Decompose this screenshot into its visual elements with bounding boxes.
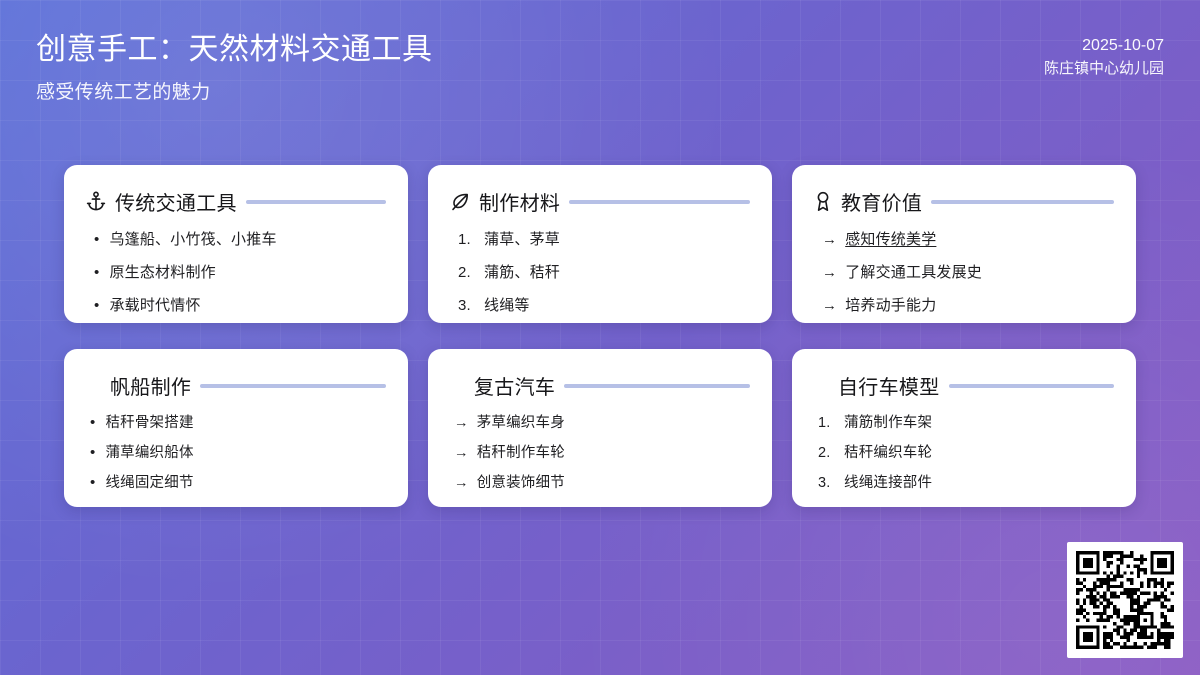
- presentation-slide: 创意手工：天然材料交通工具 感受传统工艺的魅力 2025-10-07 陈庄镇中心…: [0, 0, 1200, 675]
- list-item-text: 培养动手能力: [845, 295, 936, 317]
- list-item-text: 承载时代情怀: [109, 295, 200, 317]
- list-item: •乌篷船、小竹筏、小推车: [94, 229, 386, 251]
- title-accent-rule: [200, 384, 386, 388]
- list-marker: •: [94, 265, 99, 280]
- list-marker: →: [454, 443, 469, 464]
- card-list: →茅草编织车身→秸秆制作车轮→创意装饰细节: [450, 413, 750, 494]
- list-item-text: 蒲草编织船体: [105, 443, 193, 464]
- list-marker: •: [90, 445, 95, 460]
- card-header: 帆船制作: [86, 371, 386, 400]
- award-rosette-icon: [814, 191, 832, 212]
- card-header: 复古汽车: [450, 371, 750, 400]
- list-item-text: 茅草编织车身: [477, 413, 565, 434]
- list-marker: →: [822, 229, 837, 251]
- list-item: •原生态材料制作: [94, 262, 386, 284]
- content-card: 制作材料1.蒲草、茅草2.蒲筋、秸秆3.线绳等: [428, 165, 772, 323]
- title-accent-rule: [564, 384, 750, 388]
- list-marker: →: [454, 413, 469, 434]
- card-list: •乌篷船、小竹筏、小推车•原生态材料制作•承载时代情怀: [86, 229, 386, 316]
- list-item-text: 乌篷船、小竹筏、小推车: [109, 229, 276, 251]
- content-card: 自行车模型1.蒲筋制作车架2.秸秆编织车轮3.线绳连接部件: [792, 349, 1136, 507]
- header-meta: 2025-10-07 陈庄镇中心幼儿园: [1044, 34, 1164, 81]
- list-marker: →: [822, 262, 837, 284]
- organization-label: 陈庄镇中心幼儿园: [1044, 58, 1164, 81]
- title-accent-rule: [569, 200, 750, 204]
- list-item-text: 线绳固定细节: [105, 473, 193, 494]
- date-label: 2025-10-07: [1044, 34, 1164, 58]
- list-item: •蒲草编织船体: [90, 443, 386, 464]
- list-marker: •: [90, 415, 95, 430]
- list-marker: 3.: [818, 473, 836, 494]
- list-marker: 2.: [818, 443, 836, 464]
- list-item: 1.蒲筋制作车架: [818, 413, 1114, 434]
- list-item: →感知传统美学: [822, 229, 1114, 251]
- list-item: 3.线绳连接部件: [818, 473, 1114, 494]
- list-item: 2.秸秆编织车轮: [818, 443, 1114, 464]
- card-title: 教育价值: [841, 187, 922, 216]
- qr-code[interactable]: [1076, 551, 1174, 649]
- list-marker: 1.: [818, 413, 836, 434]
- slide-header: 创意手工：天然材料交通工具 感受传统工艺的魅力 2025-10-07 陈庄镇中心…: [0, 0, 1200, 130]
- title-accent-rule: [949, 384, 1115, 388]
- card-list: 1.蒲草、茅草2.蒲筋、秸秆3.线绳等: [450, 229, 750, 316]
- list-item-text: 创意装饰细节: [477, 473, 565, 494]
- list-marker: •: [94, 298, 99, 313]
- list-item: →茅草编织车身: [454, 413, 750, 434]
- list-marker: 1.: [458, 229, 476, 251]
- list-item: •秸秆骨架搭建: [90, 413, 386, 434]
- list-item: 3.线绳等: [458, 295, 750, 317]
- content-card: 传统交通工具•乌篷船、小竹筏、小推车•原生态材料制作•承载时代情怀: [64, 165, 408, 323]
- anchor-icon: [86, 191, 106, 212]
- list-item: →秸秆制作车轮: [454, 443, 750, 464]
- card-list: →感知传统美学→了解交通工具发展史→培养动手能力: [814, 229, 1114, 316]
- card-header: 自行车模型: [814, 371, 1114, 400]
- content-card-grid: 传统交通工具•乌篷船、小竹筏、小推车•原生态材料制作•承载时代情怀制作材料1.蒲…: [64, 165, 1136, 507]
- content-card: 教育价值→感知传统美学→了解交通工具发展史→培养动手能力: [792, 165, 1136, 323]
- card-header: 传统交通工具: [86, 187, 386, 216]
- list-item-text: 蒲筋制作车架: [844, 413, 932, 434]
- list-item-text: 线绳连接部件: [844, 473, 932, 494]
- list-marker: 3.: [458, 295, 476, 317]
- list-marker: →: [454, 473, 469, 494]
- title-accent-rule: [931, 200, 1114, 204]
- content-card: 帆船制作•秸秆骨架搭建•蒲草编织船体•线绳固定细节: [64, 349, 408, 507]
- card-list: 1.蒲筋制作车架2.秸秆编织车轮3.线绳连接部件: [814, 413, 1114, 494]
- list-item: •线绳固定细节: [90, 473, 386, 494]
- title-accent-rule: [246, 200, 386, 204]
- list-item-text: 秸秆骨架搭建: [105, 413, 193, 434]
- card-title: 传统交通工具: [115, 187, 237, 216]
- list-item-text: 了解交通工具发展史: [845, 262, 982, 284]
- list-item: →创意装饰细节: [454, 473, 750, 494]
- list-item-text: 秸秆编织车轮: [844, 443, 932, 464]
- title-block: 创意手工：天然材料交通工具 感受传统工艺的魅力: [36, 30, 433, 104]
- card-title: 复古汽车: [474, 371, 555, 400]
- list-item-text: 蒲筋、秸秆: [484, 262, 560, 284]
- list-item: •承载时代情怀: [94, 295, 386, 317]
- list-item: 1.蒲草、茅草: [458, 229, 750, 251]
- list-item-text: 蒲草、茅草: [484, 229, 560, 251]
- card-title: 制作材料: [479, 187, 560, 216]
- qr-code-panel[interactable]: [1067, 542, 1183, 658]
- list-item-text: 原生态材料制作: [109, 262, 215, 284]
- page-subtitle: 感受传统工艺的魅力: [36, 77, 433, 104]
- card-title: 帆船制作: [110, 371, 191, 400]
- list-marker: •: [94, 232, 99, 247]
- leaf-icon: [450, 192, 470, 212]
- list-marker: •: [90, 475, 95, 490]
- content-card: 复古汽车→茅草编织车身→秸秆制作车轮→创意装饰细节: [428, 349, 772, 507]
- list-item: 2.蒲筋、秸秆: [458, 262, 750, 284]
- page-title: 创意手工：天然材料交通工具: [36, 30, 433, 71]
- list-marker: 2.: [458, 262, 476, 284]
- card-header: 教育价值: [814, 187, 1114, 216]
- card-list: •秸秆骨架搭建•蒲草编织船体•线绳固定细节: [86, 413, 386, 494]
- list-item-text: 感知传统美学: [845, 229, 936, 251]
- list-item: →了解交通工具发展史: [822, 262, 1114, 284]
- list-item: →培养动手能力: [822, 295, 1114, 317]
- list-item-text: 秸秆制作车轮: [477, 443, 565, 464]
- list-marker: →: [822, 295, 837, 317]
- card-header: 制作材料: [450, 187, 750, 216]
- card-title: 自行车模型: [838, 371, 940, 400]
- list-item-text: 线绳等: [484, 295, 530, 317]
